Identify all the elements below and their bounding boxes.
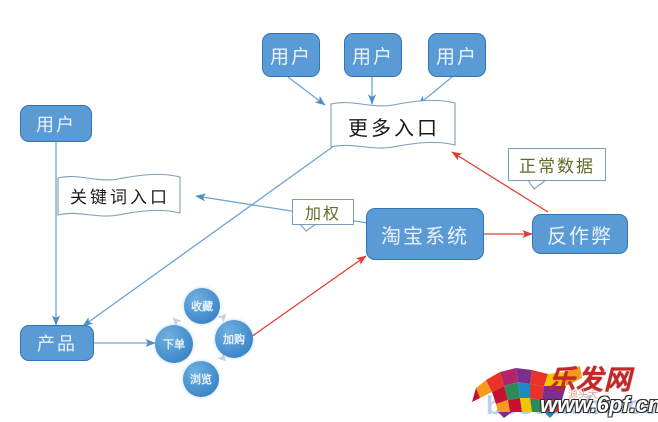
flag-label-keyword-entry: 关键词入口 (58, 183, 182, 208)
circle-place-order[interactable]: 下单 (155, 325, 193, 363)
node-more-entry[interactable]: 更多入口 (331, 100, 457, 152)
node-label: 用户 (270, 42, 312, 69)
diagram-canvas: 用户 用户 用户 用户 更多入口 关键词入口 产品 淘宝系统 反作弊 加权 正常… (0, 0, 658, 422)
watermark-url-text: www.6pf.cn (540, 392, 658, 418)
flag-label-more-entry: 更多入口 (331, 112, 457, 141)
callout-label: 正常数据 (519, 152, 595, 177)
callout-tail-normal-data (528, 180, 546, 189)
node-user-top-1[interactable]: 用户 (262, 33, 320, 77)
edge-user1-to-more-entry (288, 77, 325, 105)
node-anti-cheat[interactable]: 反作弊 (532, 214, 628, 254)
callout-tail-weighting (300, 224, 316, 231)
node-label: 产品 (37, 330, 77, 356)
callout-label: 加权 (305, 200, 341, 224)
node-user-top-2[interactable]: 用户 (344, 33, 402, 77)
node-label: 用户 (436, 42, 478, 69)
node-label: 淘宝系统 (381, 220, 469, 249)
circle-label: 浏览 (190, 371, 212, 387)
node-user-top-3[interactable]: 用户 (428, 33, 486, 77)
node-label: 用户 (352, 42, 394, 69)
callout-normal-data[interactable]: 正常数据 (508, 148, 606, 181)
node-keyword-entry[interactable]: 关键词入口 (58, 172, 182, 218)
node-product[interactable]: 产品 (20, 325, 94, 361)
node-label: 反作弊 (547, 220, 613, 249)
circle-label: 收藏 (191, 298, 213, 314)
node-label: 用户 (36, 111, 76, 137)
circle-browse[interactable]: 浏览 (183, 361, 219, 397)
circle-label: 加购 (223, 331, 245, 347)
circle-label: 下单 (163, 336, 185, 352)
node-user-left[interactable]: 用户 (20, 105, 92, 142)
circle-add-to-cart[interactable]: 加购 (215, 320, 253, 358)
node-taobao-system[interactable]: 淘宝系统 (366, 208, 484, 260)
callout-weighting[interactable]: 加权 (292, 199, 354, 225)
edge-add-to-cart-to-taobao (251, 256, 366, 337)
circle-favorite[interactable]: 收藏 (184, 288, 220, 324)
